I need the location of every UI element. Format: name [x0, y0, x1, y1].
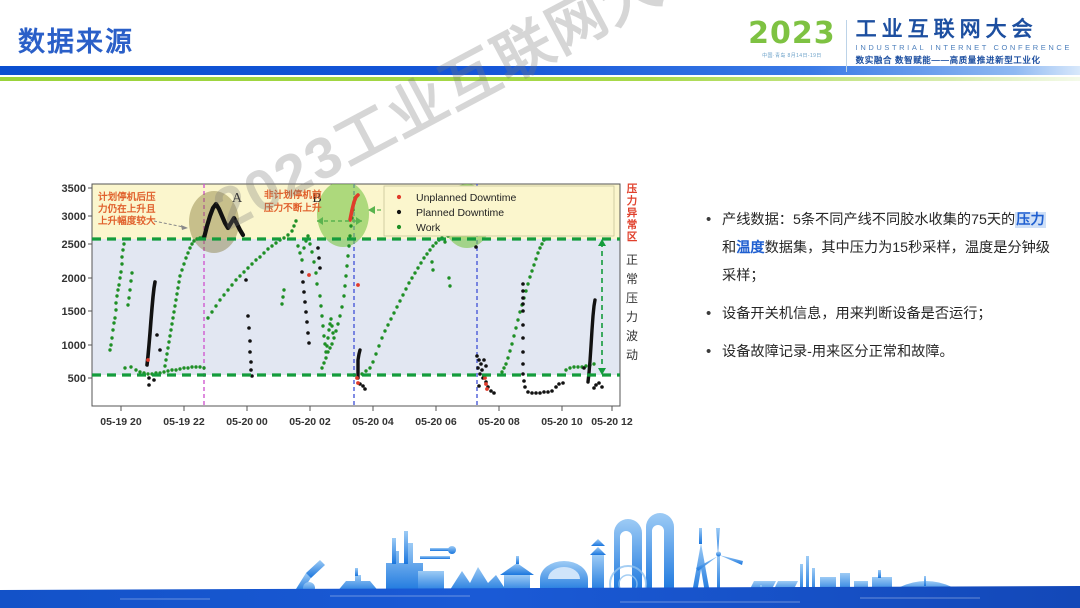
conference-logo: 2023 中国·青岛 8月14日-19日 工业互联网大会 INDUSTRIAL …: [748, 18, 1072, 80]
ytick-1500: 1500: [62, 306, 86, 318]
logo-slogan: 数实融合 数智赋能——高质量推进新型工业化: [856, 54, 1072, 66]
legend-marker-unplanned: [397, 195, 401, 199]
chart-legend: Unplanned Downtime Planned Downtime Work: [384, 186, 614, 236]
slide-root: 数据来源 2023 中国·青岛 8月14日-19日 工业互联网大会 INDUST…: [0, 0, 1080, 608]
bullet-text-1: 产线数据：5条不同产线不同胶水收集的75天的压力和温度数据集，其中压力为15秒采…: [722, 206, 1056, 290]
pressure-timeseries-chart: 3500 3000 2500 2000 1500 1000 500: [36, 178, 676, 456]
svg-text:正: 正: [626, 253, 638, 267]
legend-marker-planned: [397, 210, 401, 214]
ytick-2500: 2500: [62, 239, 86, 251]
ytick-1000: 1000: [62, 340, 86, 352]
logo-conference-name-en: INDUSTRIAL INTERNET CONFERENCE: [856, 43, 1072, 52]
svg-text:力: 力: [626, 310, 638, 324]
annotation-planned-downtime: 计划停机后压 力仍在上升且 上升幅度较大: [98, 191, 156, 227]
bullet-marker-icon: •: [706, 338, 722, 366]
bullet-highlight-temperature: 温度: [736, 240, 764, 256]
logo-conference-name-cn: 工业互联网大会: [856, 18, 1072, 42]
chart-x-axis: 05-19 20 05-19 22 05-20 00 05-20 02 05-2…: [100, 416, 633, 428]
region-label-a: A: [232, 191, 243, 206]
legend-label-work: Work: [416, 222, 441, 234]
ytick-500: 500: [68, 373, 86, 385]
annotation-a-line-1: 计划停机后压: [98, 191, 156, 203]
bullet-marker-icon: •: [706, 206, 722, 290]
bullet-seg: 和: [722, 240, 736, 256]
list-item: • 设备故障记录-用来区分正常和故障。: [706, 338, 1056, 366]
logo-separator: [846, 20, 847, 72]
slide-footer: [0, 498, 1080, 608]
bullet-text-2: 设备开关机信息，用来判断设备是否运行；: [722, 300, 992, 328]
list-item: • 产线数据：5条不同产线不同胶水收集的75天的压力和温度数据集，其中压力为15…: [706, 206, 1056, 290]
chart-x-tickmarks: [121, 406, 612, 411]
xtick-2: 05-20 00: [226, 416, 268, 428]
xtick-6: 05-20 08: [478, 416, 520, 428]
footer-skyline-graphic: [0, 498, 1080, 608]
bullet-marker-icon: •: [706, 300, 722, 328]
svg-text:波: 波: [626, 329, 638, 343]
highlight-ellipse-b: [317, 181, 369, 247]
legend-label-planned: Planned Downtime: [416, 207, 504, 219]
annotation-b-line-1: 非计划停机前: [264, 189, 322, 201]
xtick-0: 05-19 20: [100, 416, 142, 428]
svg-text:压: 压: [626, 291, 638, 305]
band-label-abnormal: 压 力 异 常 区: [627, 183, 638, 243]
xtick-8: 05-20 12: [591, 416, 633, 428]
ytick-3500: 3500: [62, 183, 86, 195]
svg-text:动: 动: [626, 348, 638, 362]
svg-text:压: 压: [627, 183, 638, 195]
chart-y-axis: 3500 3000 2500 2000 1500 1000 500: [62, 183, 86, 385]
band-label-normal: 正 常 压 力 波 动: [626, 253, 638, 362]
svg-text:常: 常: [626, 272, 638, 286]
annotation-b-line-2: 压力不断上升: [264, 202, 322, 214]
annotation-a-line-2: 力仍在上升且: [98, 203, 156, 215]
bullet-seg: 产线数据：5条不同产线不同胶水收集的75天的: [722, 212, 1015, 228]
svg-text:异: 异: [627, 207, 638, 219]
chart-y-tickmarks: [88, 188, 92, 378]
svg-text:力: 力: [627, 194, 638, 207]
xtick-5: 05-20 06: [415, 416, 457, 428]
logo-year: 2023: [748, 18, 836, 50]
xtick-3: 05-20 02: [289, 416, 331, 428]
logo-year-block: 2023 中国·青岛 8月14日-19日: [748, 18, 846, 59]
bullet-text-3: 设备故障记录-用来区分正常和故障。: [722, 338, 954, 366]
planned-downtime-trace-04: [358, 350, 360, 378]
slide-header: 数据来源 2023 中国·青岛 8月14日-19日 工业互联网大会 INDUST…: [0, 0, 1080, 96]
bullet-seg: 数据集，其中压力为15秒采样，温度是分钟级采样；: [722, 240, 1050, 284]
ytick-2000: 2000: [62, 273, 86, 285]
svg-text:区: 区: [627, 231, 638, 243]
xtick-7: 05-20 10: [541, 416, 583, 428]
bullet-highlight-pressure: 压力: [1015, 212, 1045, 228]
list-item: • 设备开关机信息，用来判断设备是否运行；: [706, 300, 1056, 328]
ytick-3000: 3000: [62, 211, 86, 223]
legend-marker-work: [397, 225, 401, 229]
chart-svg: 3500 3000 2500 2000 1500 1000 500: [36, 178, 676, 456]
band-below-normal: [92, 375, 620, 406]
logo-text-block: 工业互联网大会 INDUSTRIAL INTERNET CONFERENCE 数…: [856, 18, 1072, 66]
xtick-1: 05-19 22: [163, 416, 205, 428]
bullet-list: • 产线数据：5条不同产线不同胶水收集的75天的压力和温度数据集，其中压力为15…: [706, 206, 1056, 376]
annotation-a-line-3: 上升幅度较大: [98, 215, 156, 227]
band-normal-pressure: [92, 239, 620, 375]
page-title: 数据来源: [18, 20, 134, 59]
logo-year-subtitle: 中国·青岛 8月14日-19日: [748, 52, 836, 59]
svg-text:常: 常: [627, 218, 638, 231]
xtick-4: 05-20 04: [352, 416, 394, 428]
legend-label-unplanned: Unplanned Downtime: [416, 192, 517, 204]
